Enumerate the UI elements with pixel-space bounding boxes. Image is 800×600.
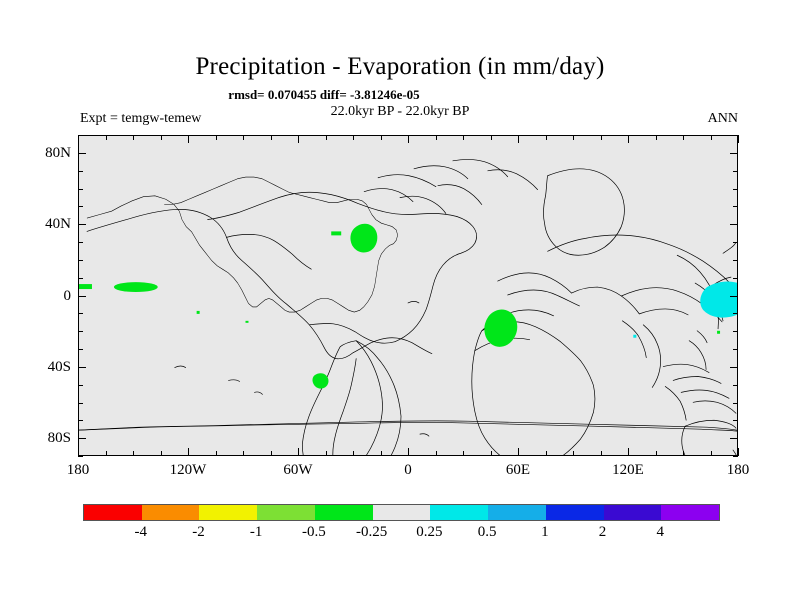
x-axis-label: 0: [404, 461, 412, 479]
colorbar-tick-label: -1: [250, 523, 263, 541]
x-axis-tick: [491, 135, 492, 140]
y-axis-label: 80N: [45, 144, 71, 162]
y-axis-tick: [78, 367, 86, 368]
x-axis-tick: [243, 451, 244, 456]
data-patches: [79, 224, 737, 389]
x-axis-tick: [436, 135, 437, 140]
y-axis-tick: [78, 385, 83, 386]
colorbar-swatch[interactable]: [199, 505, 257, 520]
patch-madagascar-blob: [484, 310, 517, 347]
x-axis-tick: [188, 448, 189, 456]
patch-eastern-pacific-sliver: [79, 284, 92, 289]
x-axis-tick: [216, 135, 217, 140]
y-axis-tick: [78, 260, 83, 261]
y-axis-tick: [733, 189, 738, 190]
colorbar-tick-label: 0.25: [416, 523, 442, 541]
x-axis-tick: [738, 135, 739, 143]
x-axis-tick: [518, 135, 519, 143]
statistics-annotation: rmsd= 0.070455 diff= -3.81246e-05: [0, 87, 648, 103]
patch-speckle-1: [197, 311, 200, 314]
y-axis-tick: [78, 278, 83, 279]
x-axis-tick: [243, 135, 244, 140]
x-axis-tick: [573, 135, 574, 140]
colorbar-tick-label: 0.5: [478, 523, 497, 541]
y-axis-tick: [78, 438, 86, 439]
colorbar-tick-label: -0.5: [302, 523, 326, 541]
x-axis-tick: [353, 135, 354, 140]
colorbar-swatch[interactable]: [257, 505, 315, 520]
y-axis-tick: [78, 135, 83, 136]
y-axis-tick: [733, 403, 738, 404]
colorbar-tick-label: 2: [599, 523, 607, 541]
x-axis-tick: [106, 135, 107, 140]
colorbar-swatch[interactable]: [84, 505, 142, 520]
x-axis-tick: [628, 448, 629, 456]
y-axis-tick: [78, 420, 83, 421]
colorbar-swatch[interactable]: [373, 505, 431, 520]
page-title: Precipitation - Evaporation (in mm/day): [0, 52, 800, 82]
patch-central-pacific-streak: [114, 282, 158, 292]
y-axis-tick: [78, 296, 86, 297]
x-axis-tick: [78, 448, 79, 456]
colorbar-swatch[interactable]: [488, 505, 546, 520]
season-annotation: ANN: [708, 110, 738, 127]
x-axis-tick: [161, 451, 162, 456]
y-axis-tick: [730, 224, 738, 225]
x-axis-tick: [78, 135, 79, 143]
coastlines: [79, 159, 737, 455]
patch-speckle-4: [717, 331, 720, 334]
x-axis-tick: [353, 451, 354, 456]
x-axis-tick: [463, 135, 464, 140]
colorbar-swatch[interactable]: [546, 505, 604, 520]
y-axis-tick: [733, 278, 738, 279]
x-axis-label: 60W: [283, 461, 312, 479]
x-axis-tick: [683, 451, 684, 456]
x-axis-tick: [381, 451, 382, 456]
x-axis-tick: [601, 451, 602, 456]
colorbar-tick-label: -0.25: [356, 523, 387, 541]
x-axis-label: 120W: [170, 461, 207, 479]
x-axis-tick: [491, 451, 492, 456]
y-axis-tick: [78, 206, 83, 207]
map-plot-area: [78, 135, 738, 456]
x-axis-tick: [188, 135, 189, 143]
x-axis-tick: [546, 135, 547, 140]
x-axis-tick: [271, 451, 272, 456]
x-axis-tick: [106, 451, 107, 456]
y-axis-tick: [78, 224, 86, 225]
y-axis-tick: [78, 403, 83, 404]
x-axis-tick: [683, 135, 684, 140]
colorbar-swatch[interactable]: [661, 505, 719, 520]
x-axis-tick: [408, 448, 409, 456]
x-axis-tick: [381, 135, 382, 140]
y-axis-tick: [78, 349, 83, 350]
x-axis-tick: [271, 135, 272, 140]
x-axis-tick: [463, 451, 464, 456]
colorbar-tick-label: 4: [657, 523, 665, 541]
x-axis-tick: [573, 451, 574, 456]
colorbar-swatch[interactable]: [430, 505, 488, 520]
x-axis-tick: [216, 451, 217, 456]
x-axis-tick: [628, 135, 629, 143]
x-axis-tick: [711, 135, 712, 140]
y-axis-tick: [733, 171, 738, 172]
x-axis-label: 180: [67, 461, 90, 479]
y-axis-tick: [78, 456, 83, 457]
colorbar-swatch[interactable]: [315, 505, 373, 520]
x-axis-tick: [133, 451, 134, 456]
x-axis-tick: [408, 135, 409, 143]
y-axis-tick: [78, 313, 83, 314]
x-axis-tick: [738, 448, 739, 456]
x-axis-tick: [546, 451, 547, 456]
colorbar-tick-label: -2: [192, 523, 205, 541]
y-axis-tick: [78, 171, 83, 172]
patch-north-atlantic-sliver: [331, 231, 341, 235]
x-axis-label: 120E: [612, 461, 644, 479]
x-axis-tick: [656, 451, 657, 456]
x-axis-label: 180: [727, 461, 750, 479]
x-axis-tick: [326, 451, 327, 456]
y-axis-tick: [733, 349, 738, 350]
y-axis-tick: [730, 438, 738, 439]
y-axis-tick: [733, 242, 738, 243]
y-axis-tick: [78, 189, 83, 190]
y-axis-tick: [733, 313, 738, 314]
patch-speckle-2: [245, 321, 248, 323]
x-axis-tick: [298, 448, 299, 456]
y-axis-label: 80S: [48, 429, 71, 447]
y-axis-label: 0: [64, 287, 72, 305]
world-map-svg: [79, 136, 737, 455]
colorbar-swatch[interactable]: [142, 505, 200, 520]
y-axis-tick: [733, 331, 738, 332]
y-axis-tick: [730, 153, 738, 154]
x-axis-tick: [298, 135, 299, 143]
patch-speckle-3: [633, 335, 636, 338]
patch-philippine-sea-blob: [700, 281, 737, 317]
y-axis-tick: [733, 206, 738, 207]
patch-south-atlantic: [312, 373, 328, 388]
y-axis-tick: [78, 242, 83, 243]
x-axis-label: 60E: [506, 461, 530, 479]
x-axis-tick: [518, 448, 519, 456]
y-axis-tick: [733, 420, 738, 421]
y-axis-tick: [78, 331, 83, 332]
x-axis-tick: [133, 135, 134, 140]
x-axis-tick: [656, 135, 657, 140]
x-axis-tick: [326, 135, 327, 140]
x-axis-tick: [601, 135, 602, 140]
y-axis-label: 40N: [45, 215, 71, 233]
y-axis-tick: [733, 135, 738, 136]
x-axis-tick: [711, 451, 712, 456]
y-axis-tick: [733, 260, 738, 261]
y-axis-tick: [730, 296, 738, 297]
x-axis-tick: [436, 451, 437, 456]
y-axis-label: 40S: [48, 358, 71, 376]
colorbar-tick-label: 1: [541, 523, 549, 541]
y-axis-tick: [733, 456, 738, 457]
x-axis-tick: [161, 135, 162, 140]
y-axis-tick: [733, 385, 738, 386]
experiment-annotation: Expt = temgw-temew: [80, 110, 201, 127]
colorbar-swatch[interactable]: [604, 505, 662, 520]
colorbar-tick-label: -4: [134, 523, 147, 541]
colorbar[interactable]: [83, 504, 720, 521]
y-axis-tick: [78, 153, 86, 154]
patch-north-atlantic-blob: [350, 224, 377, 253]
y-axis-tick: [730, 367, 738, 368]
figure-canvas: Precipitation - Evaporation (in mm/day) …: [0, 0, 800, 600]
